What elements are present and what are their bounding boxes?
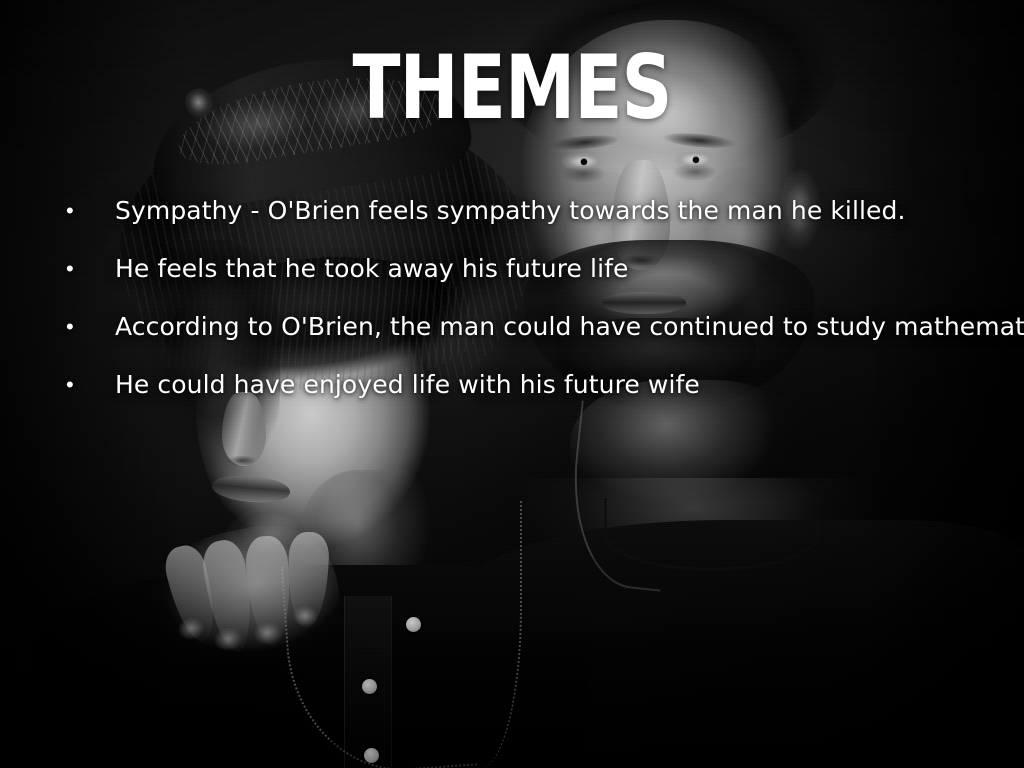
slide-title: THEMES [102, 44, 921, 132]
bullet-list: • Sympathy - O'Brien feels sympathy towa… [60, 196, 1010, 428]
bullet-marker-icon: • [60, 312, 115, 342]
list-item: • According to O'Brien, the man could ha… [60, 312, 1010, 370]
list-item: • He feels that he took away his future … [60, 254, 1010, 312]
bullet-text: He feels that he took away his future li… [115, 254, 629, 284]
list-item: • He could have enjoyed life with his fu… [60, 370, 1010, 428]
bullet-marker-icon: • [60, 254, 115, 284]
bullet-text: Sympathy - O'Brien feels sympathy toward… [115, 196, 906, 226]
bullet-marker-icon: • [60, 196, 115, 226]
list-item: • Sympathy - O'Brien feels sympathy towa… [60, 196, 1010, 254]
bullet-text: He could have enjoyed life with his futu… [115, 370, 700, 400]
presentation-slide: THEMES • Sympathy - O'Brien feels sympat… [0, 0, 1024, 768]
bullet-text: According to O'Brien, the man could have… [115, 312, 1024, 342]
bullet-marker-icon: • [60, 370, 115, 400]
slide-content: THEMES • Sympathy - O'Brien feels sympat… [0, 0, 1024, 768]
